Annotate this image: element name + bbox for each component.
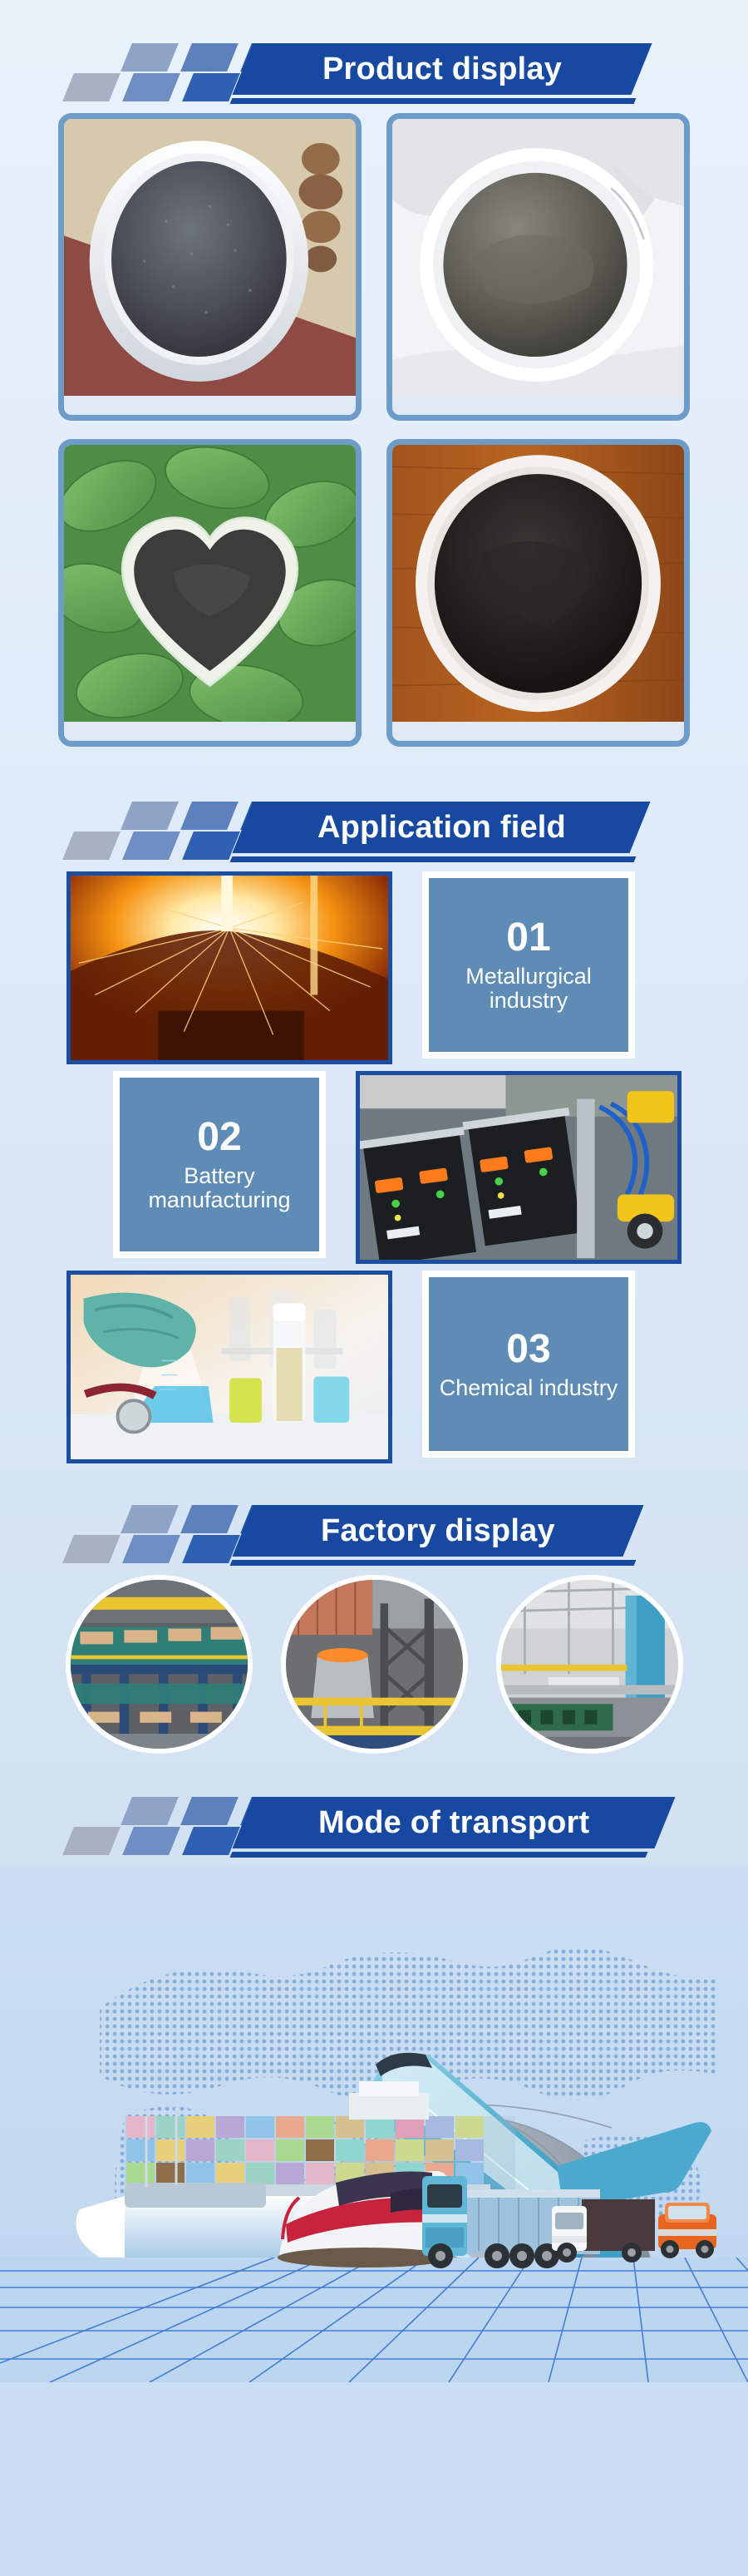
application-field-list: 01 Metallurgical industry <box>0 871 748 1470</box>
steel-furnace-sparks-photo <box>71 876 388 1060</box>
product-image-card[interactable] <box>386 439 690 747</box>
black-powder-in-white-bowl-on-wood-photo <box>392 445 684 722</box>
section-title: Product display <box>322 53 562 85</box>
lab-flask-gloved-hand-photo <box>71 1275 388 1459</box>
flag-stripe-icon <box>121 1797 179 1825</box>
grey-granular-powder-in-white-bowl-photo <box>64 119 356 396</box>
application-item: 01 Metallurgical industry <box>66 871 682 1071</box>
perspective-floor-grid <box>0 2258 748 2382</box>
smelting-furnace-hall-photo <box>286 1580 463 1749</box>
flag-stripe-icon <box>180 1505 239 1533</box>
application-title: Metallurgical industry <box>429 965 628 1013</box>
factory-image-circle[interactable] <box>281 1575 468 1754</box>
section-header-factory-display: Factory display <box>0 1483 748 1575</box>
transport-illustration <box>0 1867 748 2382</box>
factory-image-circle[interactable] <box>496 1575 683 1754</box>
flag-stripe-icon <box>182 1827 240 1855</box>
section-title-banner: Product display <box>232 43 652 95</box>
banner-underline <box>230 1560 637 1566</box>
application-number: 01 <box>506 916 550 960</box>
checkered-flag-decor: Product display <box>47 43 703 103</box>
flag-stripe-icon <box>122 1827 180 1855</box>
section-title-banner: Application field <box>232 802 650 853</box>
banner-underline <box>230 1852 648 1858</box>
section-header-product-display: Product display <box>0 22 748 113</box>
application-label: 01 Metallurgical industry <box>422 871 635 1059</box>
checkered-flag-decor: Mode of transport <box>47 1797 703 1857</box>
factory-image-circle[interactable] <box>66 1575 253 1754</box>
application-number: 02 <box>197 1116 241 1159</box>
banner-underline <box>230 856 637 862</box>
flag-stripe-icon <box>62 1827 121 1855</box>
flag-stripe-icon <box>182 73 240 101</box>
application-item: 03 Chemical industry <box>66 1271 682 1470</box>
battery-assembly-line-photo <box>360 1075 677 1260</box>
flag-stripe-icon <box>122 73 180 101</box>
checkered-flag-decor: Application field <box>47 802 703 861</box>
product-image-grid <box>0 113 748 747</box>
flag-stripe-icon <box>121 43 179 72</box>
application-item: 02 Battery manufacturing <box>66 1071 682 1271</box>
factory-image-row <box>0 1575 748 1754</box>
flag-stripe-icon <box>62 832 121 860</box>
section-title: Application field <box>317 812 566 843</box>
application-label: 02 Battery manufacturing <box>113 1071 326 1258</box>
flag-stripe-icon <box>62 73 121 101</box>
black-powder-in-heart-dish-on-leaves-photo <box>64 445 356 722</box>
application-image[interactable] <box>66 1271 392 1463</box>
flag-stripe-icon <box>180 43 239 72</box>
flag-stripe-icon <box>122 1535 180 1563</box>
flag-stripe-icon <box>180 1797 239 1825</box>
flag-stripe-icon <box>122 832 180 860</box>
banner-underline <box>230 98 637 104</box>
application-title: Battery manufacturing <box>120 1164 319 1212</box>
product-image-card[interactable] <box>58 439 362 747</box>
application-image[interactable] <box>66 871 392 1064</box>
application-image[interactable] <box>356 1071 682 1264</box>
product-image-card[interactable] <box>386 113 690 421</box>
flag-stripe-icon <box>62 1535 121 1563</box>
section-title-banner: Mode of transport <box>232 1797 675 1848</box>
application-label: 03 Chemical industry <box>422 1271 635 1458</box>
section-header-mode-of-transport: Mode of transport <box>0 1775 748 1867</box>
rolling-mill-workshop-photo <box>71 1580 248 1749</box>
flag-stripe-icon <box>182 832 240 860</box>
machining-bay-overhead-crane-photo <box>501 1580 678 1749</box>
flag-stripe-icon <box>182 1535 240 1563</box>
application-number: 03 <box>506 1328 550 1371</box>
flag-stripe-icon <box>121 802 179 830</box>
section-title: Factory display <box>321 1515 555 1547</box>
application-title: Chemical industry <box>435 1376 623 1400</box>
product-image-card[interactable] <box>58 113 362 421</box>
flag-stripe-icon <box>121 1505 179 1533</box>
section-header-application-field: Application field <box>0 780 748 871</box>
checkered-flag-decor: Factory display <box>47 1505 703 1565</box>
section-title: Mode of transport <box>318 1807 589 1838</box>
section-title-banner: Factory display <box>232 1505 643 1557</box>
flag-stripe-icon <box>180 802 239 830</box>
dark-grey-powder-in-bowl-on-paper-photo <box>392 119 684 396</box>
